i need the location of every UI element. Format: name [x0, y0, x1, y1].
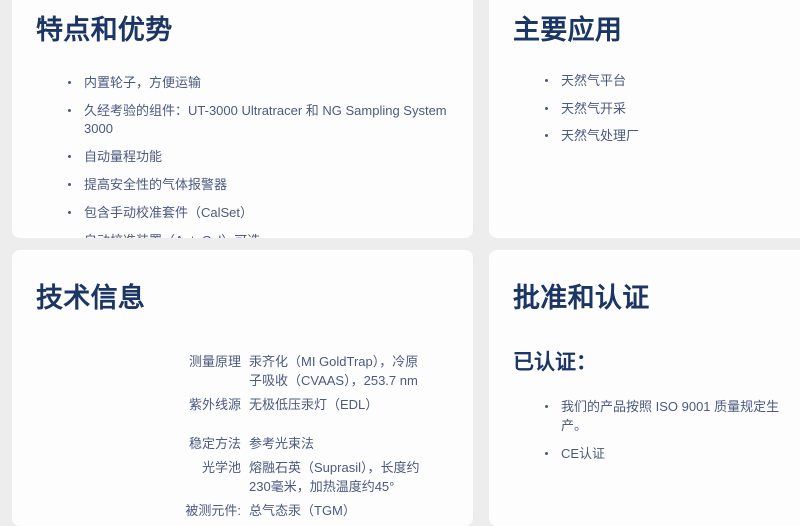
- table-row: 被测元件: 总气态汞（TGM）: [36, 501, 449, 525]
- list-item: 我们的产品按照 ISO 9001 质量规定生产。: [541, 398, 790, 436]
- spec-value: 熔融石英（Suprasil），长度约230毫米，加热温度约45°: [249, 458, 449, 501]
- approvals-panel-title: 批准和认证: [513, 250, 790, 316]
- features-panel-body: 特点和优势 内置轮子，方便运输 久经考验的组件：UT-3000 Ultratra…: [12, 0, 473, 238]
- spacer-cell: [249, 418, 449, 434]
- spec-label: 紫外线源: [36, 395, 249, 419]
- spec-label: 测量原理: [36, 352, 249, 395]
- table-row: 紫外线源 无极低压汞灯（EDL）: [36, 395, 449, 419]
- spec-value: 参考光束法: [249, 434, 449, 458]
- features-list: 内置轮子，方便运输 久经考验的组件：UT-3000 Ultratracer 和 …: [36, 48, 449, 238]
- approvals-subtitle: 已认证：: [513, 316, 790, 376]
- technical-panel-title: 技术信息: [36, 250, 449, 316]
- table-row: 测量原理 汞齐化（MI GoldTrap），冷原子吸收（CVAAS），253.7…: [36, 352, 449, 395]
- features-panel: 特点和优势 内置轮子，方便运输 久经考验的组件：UT-3000 Ultratra…: [12, 0, 473, 238]
- spec-label: 稳定方法: [36, 434, 249, 458]
- list-item: 天然气处理厂: [541, 127, 790, 146]
- approvals-panel-body: 批准和认证 已认证： 我们的产品按照 ISO 9001 质量规定生产。 CE认证: [489, 250, 800, 464]
- list-item: 内置轮子，方便运输: [64, 74, 449, 93]
- list-item: 提高安全性的气体报警器: [64, 176, 449, 195]
- applications-panel-title: 主要应用: [513, 0, 790, 48]
- technical-panel: 技术信息 测量原理 汞齐化（MI GoldTrap），冷原子吸收（CVAAS），…: [12, 250, 473, 526]
- panel-grid: 特点和优势 内置轮子，方便运输 久经考验的组件：UT-3000 Ultratra…: [0, 0, 800, 508]
- spec-value: 汞齐化（MI GoldTrap），冷原子吸收（CVAAS），253.7 nm: [249, 352, 449, 395]
- list-item: 久经考验的组件：UT-3000 Ultratracer 和 NG Samplin…: [64, 102, 449, 140]
- spacer-cell: [36, 418, 249, 434]
- approvals-panel: 批准和认证 已认证： 我们的产品按照 ISO 9001 质量规定生产。 CE认证: [489, 250, 800, 526]
- spec-label: 被测元件:: [36, 501, 249, 525]
- list-item: 天然气开采: [541, 100, 790, 119]
- spec-label: 光学池: [36, 458, 249, 501]
- technical-spec-table: 测量原理 汞齐化（MI GoldTrap），冷原子吸收（CVAAS），253.7…: [36, 352, 449, 525]
- list-item: 自动量程功能: [64, 148, 449, 167]
- approvals-list: 我们的产品按照 ISO 9001 质量规定生产。 CE认证: [513, 376, 790, 464]
- applications-panel-body: 主要应用 天然气平台 天然气开采 天然气处理厂: [489, 0, 800, 146]
- list-item: 天然气平台: [541, 72, 790, 91]
- spec-value: 无极低压汞灯（EDL）: [249, 395, 449, 419]
- spec-value: 总气态汞（TGM）: [249, 501, 449, 525]
- list-item: 包含手动校准套件（CalSet）: [64, 204, 449, 223]
- applications-list: 天然气平台 天然气开采 天然气处理厂: [513, 48, 790, 147]
- features-panel-title: 特点和优势: [36, 0, 449, 48]
- table-row-spacer: [36, 418, 449, 434]
- list-item: 自动校准装置（AutoCal）可选: [64, 232, 449, 238]
- applications-panel: 主要应用 天然气平台 天然气开采 天然气处理厂: [489, 0, 800, 238]
- table-row: 光学池 熔融石英（Suprasil），长度约230毫米，加热温度约45°: [36, 458, 449, 501]
- list-item: CE认证: [541, 445, 790, 464]
- table-row: 稳定方法 参考光束法: [36, 434, 449, 458]
- technical-panel-body: 技术信息 测量原理 汞齐化（MI GoldTrap），冷原子吸收（CVAAS），…: [12, 250, 473, 524]
